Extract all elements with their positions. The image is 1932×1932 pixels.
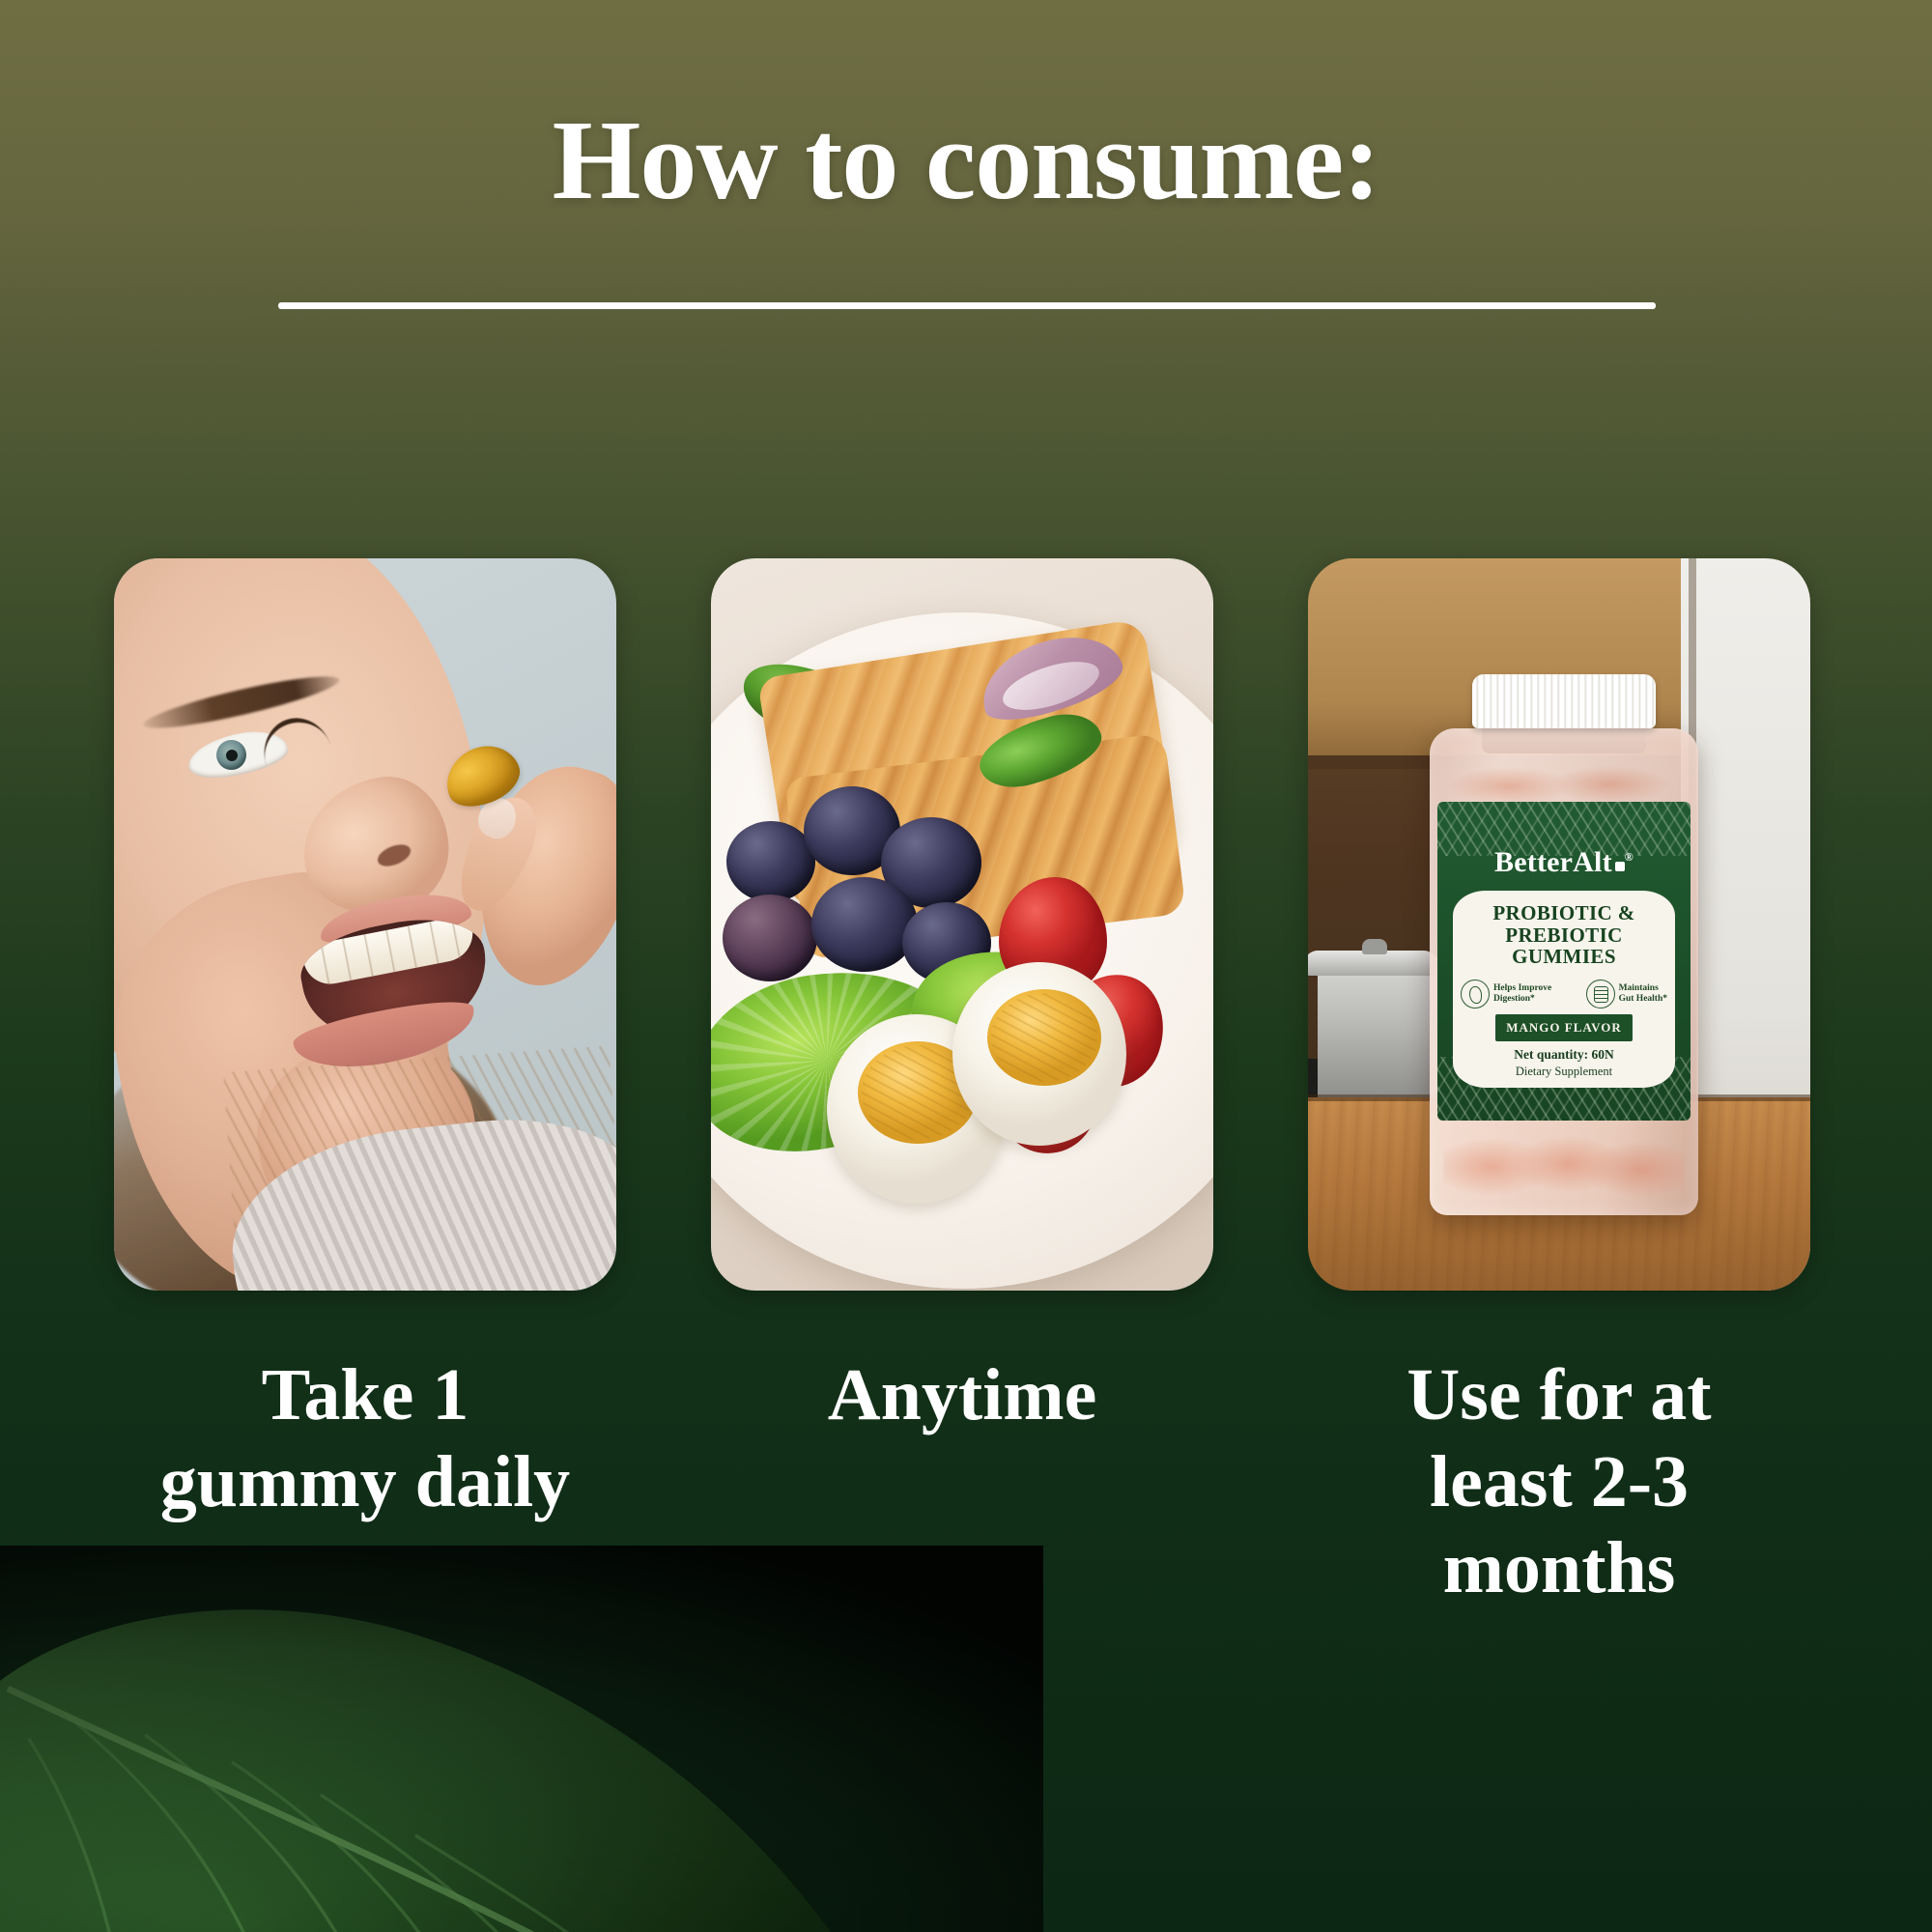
- product-label: BetterAlt® PROBIOTIC & PREBIOTIC GUMMIES…: [1437, 802, 1690, 1121]
- captions-row: Take 1 gummy daily Anytime Use for at le…: [114, 1352, 1810, 1612]
- product-name: PROBIOTIC & PREBIOTIC GUMMIES: [1453, 902, 1675, 968]
- product-name-line-1: PROBIOTIC &: [1453, 902, 1675, 924]
- step-card-3: BetterAlt® PROBIOTIC & PREBIOTIC GUMMIES…: [1308, 558, 1810, 1291]
- benefit-digestion: Helps Improve Digestion*: [1461, 980, 1551, 1009]
- step-caption-2: Anytime: [711, 1352, 1213, 1612]
- pupil-shape: [226, 750, 238, 761]
- benefits-row: Helps Improve Digestion* Maintains Gut H…: [1461, 980, 1667, 1009]
- steps-row: BetterAlt® PROBIOTIC & PREBIOTIC GUMMIES…: [114, 558, 1810, 1291]
- brand-dot-icon: [1615, 862, 1625, 871]
- stomach-icon: [1461, 980, 1490, 1009]
- step-card-1: [114, 558, 616, 1291]
- product-name-line-3: GUMMIES: [1453, 946, 1675, 968]
- grape-shape: [723, 895, 817, 981]
- benefit-gut-health-label: Maintains Gut Health*: [1619, 983, 1667, 1005]
- step-card-2: [711, 558, 1213, 1291]
- brand-name: BetterAlt®: [1437, 846, 1690, 879]
- brand-text: BetterAlt: [1494, 846, 1612, 878]
- flavor-badge: MANGO FLAVOR: [1495, 1014, 1633, 1041]
- net-quantity: Net quantity: 60N: [1453, 1047, 1675, 1063]
- title-divider: [278, 302, 1656, 309]
- benefit-digestion-label: Helps Improve Digestion*: [1493, 983, 1551, 1005]
- step-caption-3: Use for at least 2-3 months: [1308, 1352, 1810, 1612]
- bottle-cap: [1472, 674, 1656, 728]
- egg-yolk-shape: [987, 989, 1101, 1086]
- grape-shape: [811, 877, 918, 972]
- product-name-line-2: PREBIOTIC: [1453, 924, 1675, 947]
- label-white-panel: PROBIOTIC & PREBIOTIC GUMMIES Helps Impr…: [1453, 891, 1675, 1088]
- product-bottle: BetterAlt® PROBIOTIC & PREBIOTIC GUMMIES…: [1430, 674, 1698, 1215]
- kitchen-appliance-shape: [1318, 956, 1443, 1101]
- infographic-canvas: How to consume:: [0, 0, 1932, 1932]
- page-title: How to consume:: [0, 100, 1932, 220]
- supplement-type: Dietary Supplement: [1453, 1065, 1675, 1079]
- gummies-inside-bottom: [1443, 1132, 1685, 1202]
- registered-trademark-icon: ®: [1625, 850, 1634, 864]
- benefit-gut-health: Maintains Gut Health*: [1586, 980, 1667, 1009]
- appliance-knob-shape: [1362, 939, 1387, 954]
- grape-shape: [726, 821, 815, 902]
- intestine-icon: [1586, 980, 1615, 1009]
- step-caption-1: Take 1 gummy daily: [114, 1352, 616, 1612]
